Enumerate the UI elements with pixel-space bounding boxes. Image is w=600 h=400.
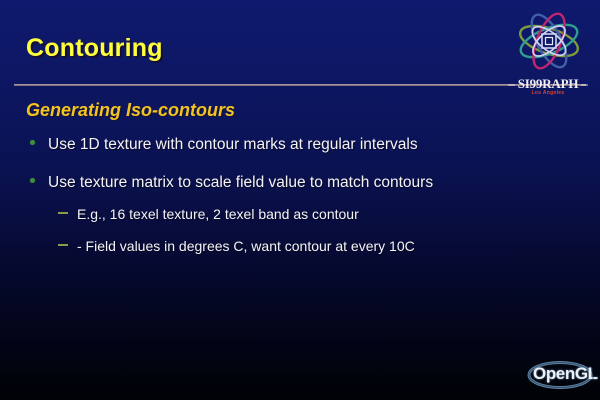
- opengl-trademark-dot: [592, 377, 594, 379]
- list-item: Use texture matrix to scale field value …: [30, 174, 433, 192]
- green-dot-bullet-icon: [30, 178, 35, 183]
- list-item: E.g., 16 texel texture, 2 texel band as …: [58, 206, 359, 222]
- dash-bullet-icon: [58, 212, 68, 214]
- list-item-label: Use 1D texture with contour marks at reg…: [48, 136, 418, 154]
- page-title: Contouring: [26, 34, 163, 63]
- list-item-label: Use texture matrix to scale field value …: [48, 174, 433, 192]
- opengl-wordmark: OpenGL: [533, 364, 598, 384]
- slide-subtitle: Generating Iso-contours: [26, 100, 235, 121]
- list-item-label: - Field values in degrees C, want contou…: [77, 238, 415, 254]
- opengl-logo: OpenGL: [526, 358, 600, 392]
- dash-bullet-icon: [58, 244, 68, 246]
- presentation-slide: Contouring Generating Iso-contours Use 1…: [0, 0, 600, 400]
- list-item-label: E.g., 16 texel texture, 2 texel band as …: [77, 206, 359, 222]
- siggraph-city-label: Los Angeles: [500, 90, 596, 96]
- green-dot-bullet-icon: [30, 140, 35, 145]
- list-item: - Field values in degrees C, want contou…: [58, 238, 415, 254]
- siggraph-99-rosette-logo: [508, 8, 590, 74]
- siggraph-99-logo: – SI99RAPH – Los Angeles: [500, 8, 596, 102]
- list-item: Use 1D texture with contour marks at reg…: [30, 136, 418, 154]
